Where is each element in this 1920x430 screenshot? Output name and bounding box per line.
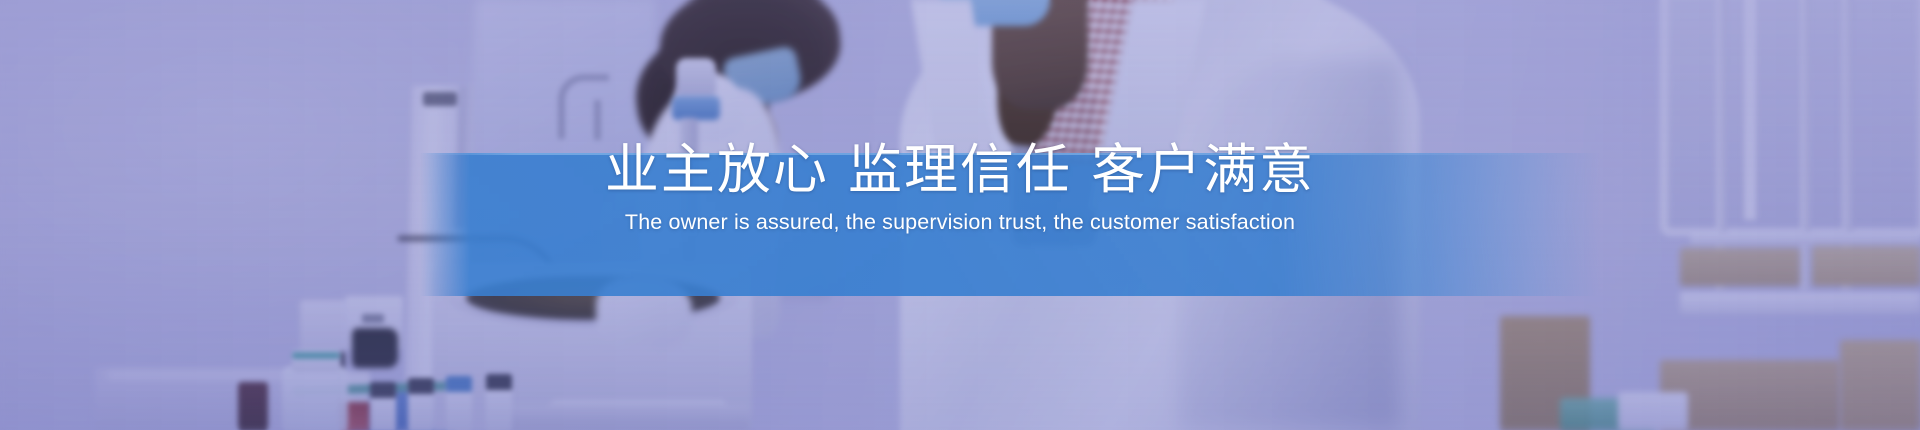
band-top-highlight [0, 153, 1920, 155]
promo-banner: 业主放心 监理信任 客户满意 The owner is assured, the… [0, 0, 1920, 430]
headline-blue-band [0, 153, 1920, 296]
